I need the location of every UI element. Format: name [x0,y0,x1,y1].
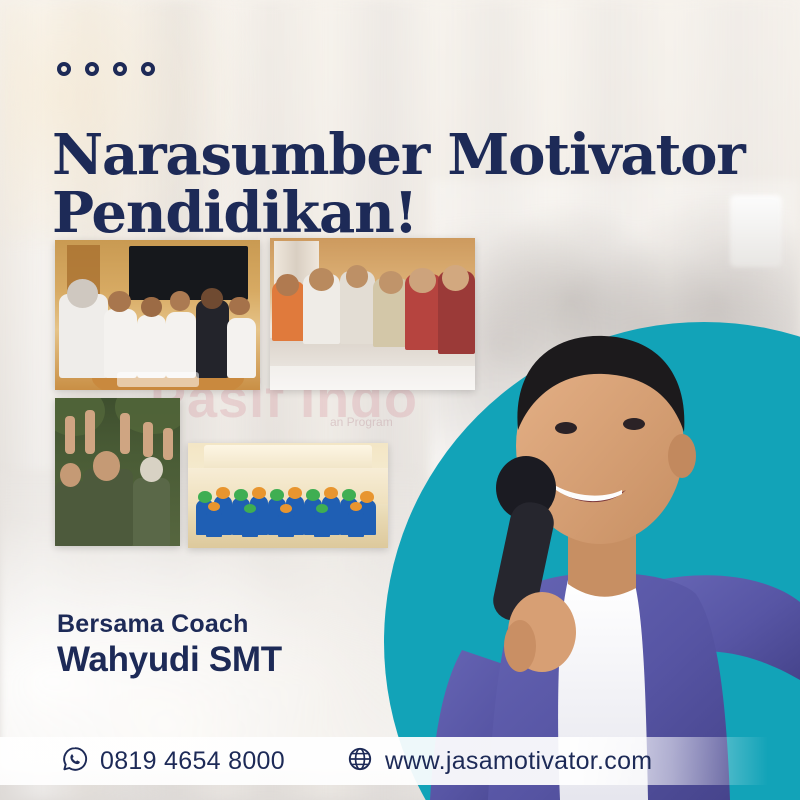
circle-outline-icon [57,62,71,76]
speaker-photo-cutout [400,250,800,800]
globe-icon [347,746,373,777]
headline-line-2: Pendidikan! [52,184,752,242]
circle-outline-icon [141,62,155,76]
phone-number-text: 0819 4654 8000 [100,747,285,776]
coach-name-label: Wahyudi SMT [57,640,282,680]
decorative-dots [57,62,155,76]
photo-group-ballroom [188,443,388,548]
contact-phone[interactable]: 0819 4654 8000 [62,746,285,777]
watermark-subtext: an Program [330,415,393,429]
photo-roundtable-handshake [55,240,260,390]
headline-line-1: Narasumber Motivator [52,122,745,188]
promotional-poster: Pasif Indo an Program Narasumber Motivat… [0,0,800,800]
contact-website[interactable]: www.jasamotivator.com [347,746,653,777]
circle-outline-icon [85,62,99,76]
website-url-text: www.jasamotivator.com [385,747,653,776]
circle-outline-icon [113,62,127,76]
contact-bar: 0819 4654 8000 www.jasamotivator.com [0,737,800,785]
coach-prefix-label: Bersama Coach [57,610,249,639]
photo-outdoor-hands-up [55,398,180,546]
page-title: Narasumber Motivator Pendidikan! [52,126,752,242]
whatsapp-icon [62,746,88,777]
